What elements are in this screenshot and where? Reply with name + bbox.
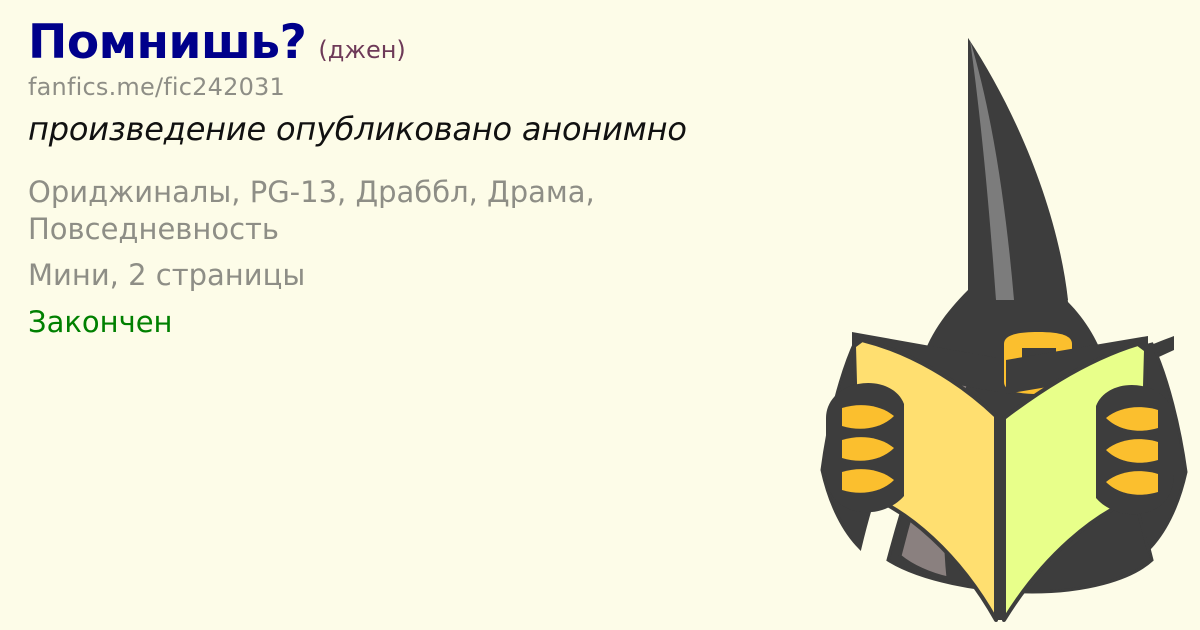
text-column: Помнишь? (джен) fanfics.me/fic242031 про… xyxy=(28,18,868,340)
metadata-size: Мини, 2 страницы xyxy=(28,257,818,294)
genre-tag: (джен) xyxy=(318,36,405,64)
wizard-reading-book-icon xyxy=(800,0,1200,630)
right-hand-claws-shape xyxy=(1096,385,1174,514)
status-badge: Закончен xyxy=(28,304,868,341)
metadata-block: Ориджиналы, PG-13, Драббл, Драма, Повсед… xyxy=(28,174,868,340)
source-url: fanfics.me/fic242031 xyxy=(28,73,868,101)
anonymous-notice: произведение опубликовано анонимно xyxy=(28,110,868,148)
title-row: Помнишь? (джен) xyxy=(28,18,868,67)
metadata-tags: Ориджиналы, PG-13, Драббл, Драма, Повсед… xyxy=(28,174,818,247)
left-hand-claws-shape xyxy=(826,383,904,512)
fanfic-preview-card: Помнишь? (джен) fanfics.me/fic242031 про… xyxy=(0,0,1200,630)
page-title: Помнишь? xyxy=(28,18,306,67)
